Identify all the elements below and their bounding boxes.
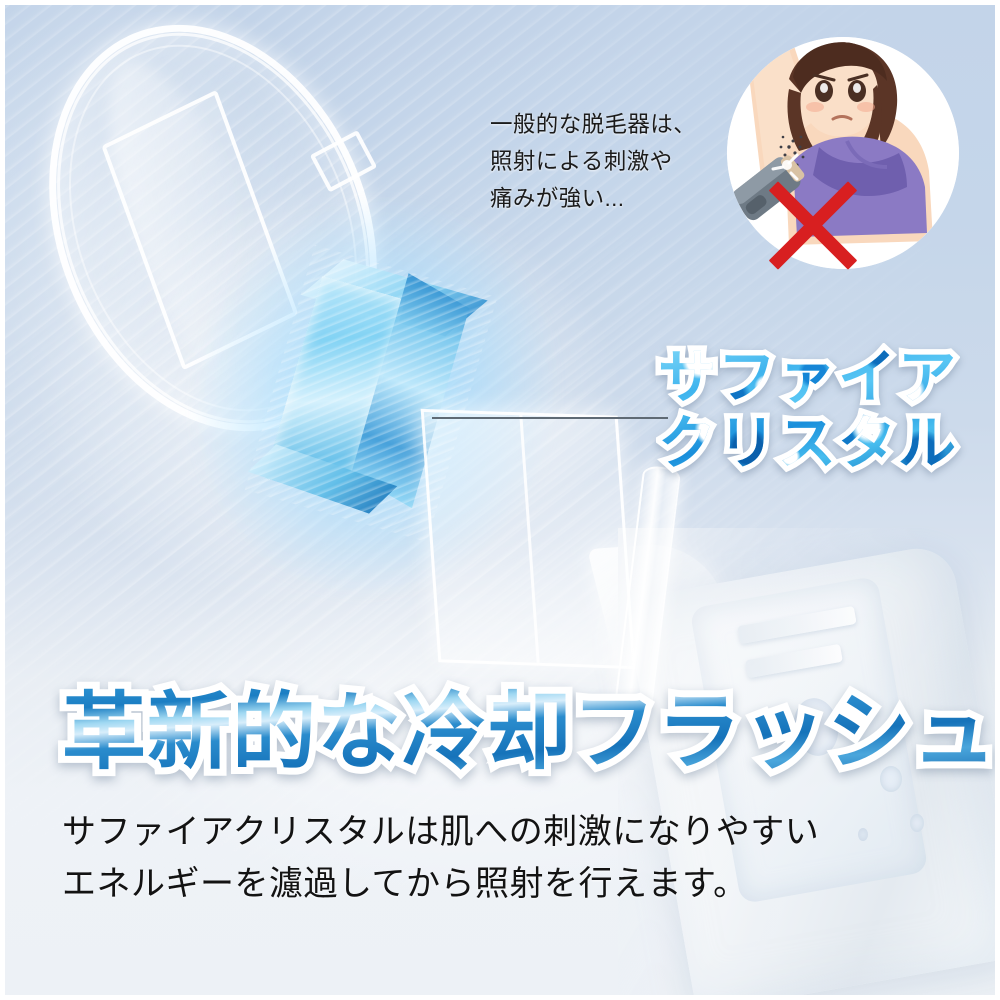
sapphire-label-line-2: クリスタル クリスタル: [658, 410, 958, 476]
glass-panel-fold: [519, 415, 539, 663]
body-copy: サファイアクリスタルは肌への刺激になりやすい エネルギーを濾過してから照射を行え…: [62, 806, 819, 910]
callout-leader-line: [432, 417, 668, 419]
x-mark-icon: [757, 169, 869, 281]
callout-line-1: 一般的な脱毛器は、: [490, 106, 720, 143]
callout-line-3: 痛みが強い...: [490, 180, 720, 217]
problem-callout-text: 一般的な脱毛器は、 照射による刺激や 痛みが強い...: [490, 106, 720, 217]
callout-line-2: 照射による刺激や: [490, 143, 720, 180]
main-headline-fill: 革新的な冷却フラッシュ: [62, 683, 997, 781]
sapphire-label-line-1: サファイア サファイア: [658, 344, 958, 410]
product-feature-banner: 一般的な脱毛器は、 照射による刺激や 痛みが強い... サファイア サファイア …: [0, 0, 1000, 1000]
body-copy-line-2: エネルギーを濾過してから照射を行えます。: [62, 858, 819, 910]
sapphire-label-line-1-fill: サファイア: [658, 343, 958, 411]
problem-illustration: [727, 37, 959, 269]
sapphire-label-line-2-fill: クリスタル: [658, 409, 958, 477]
sapphire-crystal-label: サファイア サファイア クリスタル クリスタル: [658, 344, 958, 476]
glass-panel: [421, 409, 636, 669]
main-headline: 革新的な冷却フラッシュ 革新的な冷却フラッシュ: [62, 684, 997, 780]
body-copy-line-1: サファイアクリスタルは肌への刺激になりやすい: [62, 806, 819, 858]
